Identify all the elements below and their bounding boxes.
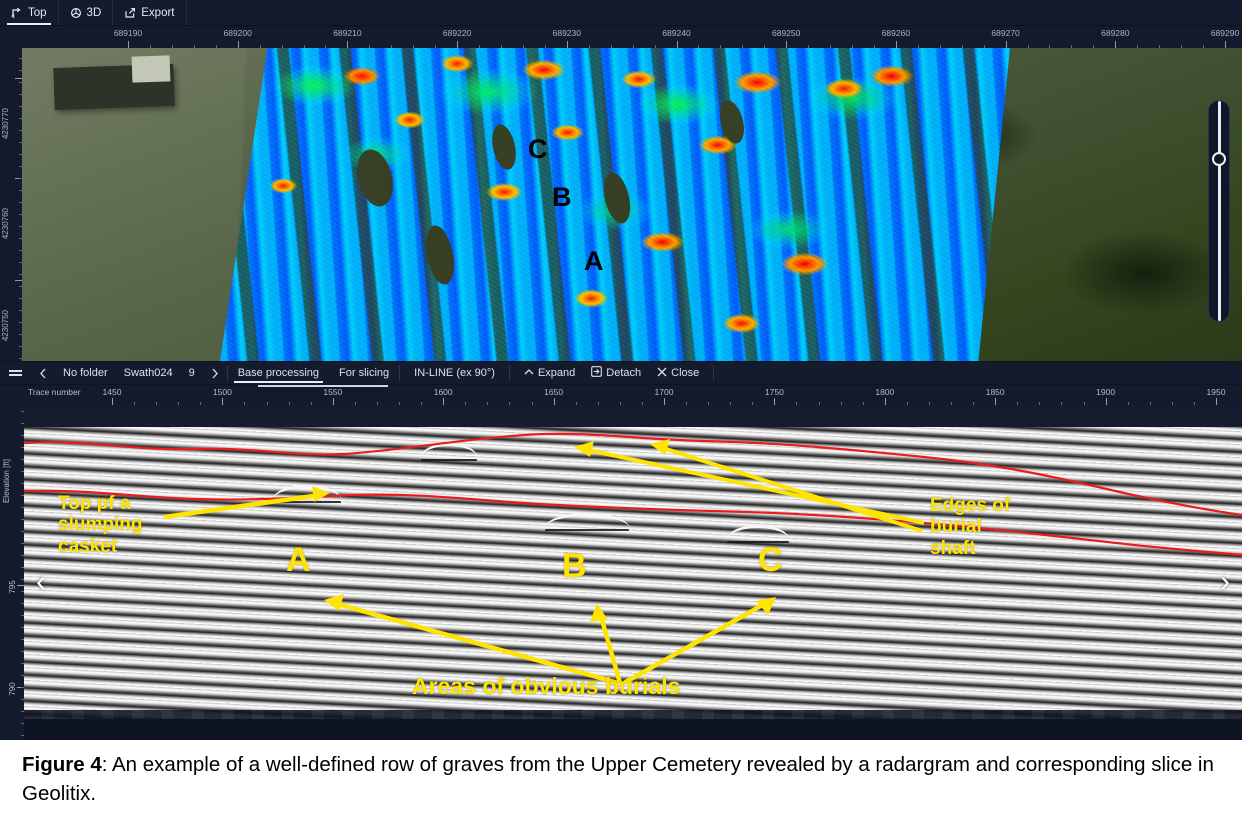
ruler-label: 1700 [655, 387, 674, 397]
ruler-tick [1225, 41, 1226, 48]
toolbar-label-export: Export [141, 7, 174, 19]
ruler-label: 1500 [213, 387, 232, 397]
ruler-tick [15, 280, 22, 281]
ruler-tick [567, 41, 568, 48]
radargram-panel: 1450150015501600165017001750180018501900… [0, 385, 1242, 740]
expand-label: Expand [538, 367, 575, 379]
detach-button[interactable]: Detach [583, 362, 649, 384]
map-letter-c: C [528, 136, 548, 163]
radargram-y-ruler: Elevation [ft]795790 [0, 405, 24, 740]
ruler-tick [664, 398, 665, 405]
ruler-label: 790 [8, 682, 17, 695]
figure-caption-text: : An example of a well-defined row of gr… [22, 753, 1214, 805]
slider-track [1218, 101, 1221, 321]
annotation-obvious-burials: Areas of obvious burials [412, 673, 680, 700]
close-button[interactable]: Close [649, 362, 707, 384]
ruler-label: 689190 [114, 28, 142, 38]
elevation-axis-label: Elevation [ft] [2, 459, 11, 503]
previous-profile-button[interactable]: ‹ [36, 567, 46, 597]
tab-base-processing[interactable]: Base processing [228, 362, 329, 384]
profile-toolbar: chevron-left-icon No folder Swath024 9 B… [0, 361, 1242, 385]
swath-label[interactable]: Swath024 [116, 362, 181, 384]
gpr-application-window: Top 3D Export 689190689200689210689 [0, 0, 1242, 825]
chevron-up-icon [524, 367, 534, 379]
ruler-tick [347, 41, 348, 48]
toolbar-label-top: Top [28, 7, 47, 19]
prev-swath-button[interactable]: chevron-left-icon [31, 362, 55, 384]
map-letter-b: B [552, 184, 572, 211]
ruler-tick [885, 398, 886, 405]
ruler-label: 1750 [765, 387, 784, 397]
ruler-label: 689290 [1211, 28, 1239, 38]
ruler-tick [774, 398, 775, 405]
map-y-ruler: 423077042307604230750 [0, 48, 22, 361]
radargram-letter-c: C [758, 543, 783, 577]
ruler-tick [1106, 398, 1107, 405]
ruler-label: 1850 [986, 387, 1005, 397]
radargram-view[interactable]: Top pf a slumping casket Edges of burial… [24, 405, 1242, 740]
ruler-label: 1600 [434, 387, 453, 397]
close-label: Close [671, 367, 699, 379]
ruler-selection-bar[interactable] [258, 385, 388, 387]
ruler-label: 689230 [553, 28, 581, 38]
ruler-tick [238, 41, 239, 48]
ruler-label: 1950 [1207, 387, 1226, 397]
ruler-label: 689270 [991, 28, 1019, 38]
next-profile-button[interactable]: › [1220, 567, 1230, 597]
folder-label[interactable]: No folder [55, 362, 116, 384]
tab-for-slicing[interactable]: For slicing [329, 362, 399, 384]
ruler-tick [1216, 398, 1217, 405]
figure-label: Figure 4 [22, 753, 102, 776]
cube-icon [70, 7, 82, 19]
radargram-x-ruler: 1450150015501600165017001750180018501900… [0, 385, 1242, 405]
map-view[interactable]: C B A [22, 48, 1242, 361]
divider [713, 365, 714, 381]
ruler-label: 795 [8, 580, 17, 593]
toolbar-button-3d[interactable]: 3D [59, 0, 114, 25]
ruler-label: 1450 [103, 387, 122, 397]
radargram-letter-b: B [562, 549, 587, 583]
ruler-label: 1800 [875, 387, 894, 397]
ruler-label: 689280 [1101, 28, 1129, 38]
detach-label: Detach [606, 367, 641, 379]
figure-caption: Figure 4: An example of a well-defined r… [0, 740, 1242, 825]
ruler-tick [995, 398, 996, 405]
ruler-label: 4230770 [1, 108, 10, 139]
ruler-tick [1006, 41, 1007, 48]
ruler-label: 1900 [1096, 387, 1115, 397]
ruler-tick [786, 41, 787, 48]
gpr-time-slice-overlay[interactable] [220, 48, 1010, 361]
radargram-letter-a: A [286, 543, 311, 577]
ruler-label: 1650 [544, 387, 563, 397]
ruler-label: 4230760 [1, 208, 10, 239]
annotation-slumping-casket: Top pf a slumping casket [58, 493, 142, 557]
detach-icon [591, 366, 602, 380]
map-panel: 6891906892006892106892206892306892406892… [0, 26, 1242, 361]
ruler-tick [333, 398, 334, 405]
ruler-tick [17, 585, 24, 586]
next-swath-button[interactable] [203, 362, 227, 384]
ruler-tick [222, 398, 223, 405]
map-x-ruler: 6891906892006892106892206892306892406892… [0, 26, 1242, 48]
ruler-tick [112, 398, 113, 405]
swath-index[interactable]: 9 [181, 362, 203, 384]
ruler-tick [677, 41, 678, 48]
expand-button[interactable]: Expand [510, 362, 583, 384]
hamburger-icon[interactable] [0, 370, 31, 376]
ruler-tick [128, 41, 129, 48]
ruler-label: 689250 [772, 28, 800, 38]
depth-slider[interactable] [1208, 100, 1230, 322]
close-icon [657, 367, 667, 380]
ruler-label: 1550 [323, 387, 342, 397]
radargram-air-zone [24, 405, 1242, 427]
toolbar-button-export[interactable]: Export [113, 0, 186, 25]
slider-handle[interactable] [1212, 152, 1226, 166]
annotation-burial-shaft: Edges of burial shaft [930, 495, 1010, 559]
line-mode-label[interactable]: IN-LINE (ex 90°) [400, 362, 509, 384]
trace-number-label: Trace number [28, 387, 81, 397]
ruler-label: 689220 [443, 28, 471, 38]
ruler-label: 689200 [224, 28, 252, 38]
toolbar-button-top[interactable]: Top [0, 0, 59, 25]
ruler-tick [457, 41, 458, 48]
ruler-tick [443, 398, 444, 405]
ruler-label: 689240 [662, 28, 690, 38]
ruler-tick [554, 398, 555, 405]
map-letter-a: A [584, 248, 604, 275]
ruler-tick [15, 78, 22, 79]
ruler-tick [896, 41, 897, 48]
ruler-label: 689210 [333, 28, 361, 38]
export-icon [124, 7, 136, 19]
ruler-label: 689260 [882, 28, 910, 38]
top-toolbar: Top 3D Export [0, 0, 1242, 26]
ruler-tick [1115, 41, 1116, 48]
toolbar-label-3d: 3D [87, 7, 102, 19]
radargram-bottom-mute [24, 719, 1242, 740]
top-view-icon [11, 7, 23, 19]
ruler-label: 4230750 [1, 310, 10, 341]
